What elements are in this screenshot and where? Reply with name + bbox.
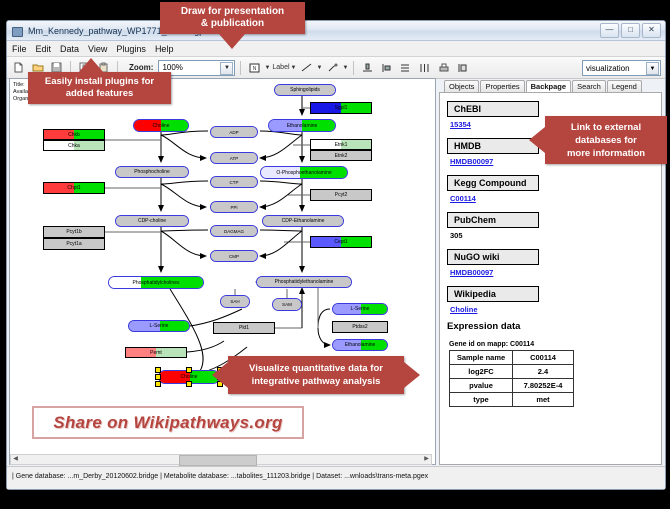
node-label: L-Serine — [351, 306, 370, 312]
tab-properties[interactable]: Properties — [480, 80, 524, 92]
gene-node-pcyt1a[interactable]: Pcyt1a — [43, 238, 105, 250]
datanode-dropdown[interactable]: N ▼ — [246, 59, 270, 76]
node-label: Pcyt1b — [66, 229, 81, 235]
db-name-pubchem: PubChem — [447, 212, 539, 228]
maximize-button[interactable]: □ — [621, 23, 640, 38]
order-icon[interactable] — [454, 59, 471, 76]
metabolite-node-ethanolamine[interactable]: Ethanolamine — [268, 119, 336, 132]
metabolite-node-atp[interactable]: ATP — [210, 152, 258, 164]
scroll-left-icon[interactable]: ◀ — [11, 455, 20, 464]
metabolite-node-cdp-choline[interactable]: CDP-choline — [115, 215, 189, 227]
db-name-nugo-wiki: NuGO wiki — [447, 249, 539, 265]
metabolite-node-phosphatidylcholines[interactable]: Phosphatidylcholines — [108, 276, 204, 289]
minimize-button[interactable]: — — [600, 23, 619, 38]
node-label: Pld1 — [239, 325, 249, 331]
chevron-down-icon[interactable]: ▼ — [291, 65, 297, 71]
callout-plugins-line1: Easily install plugins for — [45, 76, 154, 88]
node-label: Ethanolamine — [287, 123, 318, 129]
selection-handle[interactable] — [186, 381, 192, 387]
print-icon[interactable] — [435, 59, 452, 76]
callout-visualize-line2: integrative pathway analysis — [249, 375, 383, 388]
cell-value: met — [513, 393, 574, 407]
selection-handle[interactable] — [155, 381, 161, 387]
scroll-right-icon[interactable]: ▶ — [422, 455, 431, 464]
cell-key: pvalue — [450, 379, 513, 393]
db-name-kegg-compound: Kegg Compound — [447, 175, 539, 191]
menu-item-file[interactable]: File — [12, 44, 27, 54]
callout-visualize-arrow-right-icon — [404, 362, 420, 388]
metabolite-node-ethanolamine[interactable]: Ethanolamine — [332, 339, 388, 351]
metabolite-node-l-serine[interactable]: L-Serine — [332, 303, 388, 315]
metabolite-node-cmp[interactable]: CMP — [210, 250, 258, 262]
node-label: Phosphatidylcholines — [133, 280, 180, 286]
db-name-chebi: ChEBI — [447, 101, 539, 117]
callout-link-line3: more information — [567, 147, 645, 160]
datanode-icon[interactable]: N — [246, 59, 263, 76]
gene-node-etnk2[interactable]: Etnk2 — [310, 150, 372, 161]
callout-external-links: Link to external databases for more info… — [545, 116, 667, 164]
db-link-wikipedia[interactable]: Choline — [450, 305, 654, 314]
node-label: Chpt1 — [67, 185, 80, 191]
node-label: Etnk1 — [335, 142, 348, 148]
callout-plugins-arrow-icon — [78, 58, 104, 73]
zoom-value: 100% — [162, 63, 182, 72]
node-label: Chka — [68, 143, 80, 149]
node-label: Phosphatidylethanolamine — [275, 279, 334, 285]
chevron-down-icon[interactable]: ▼ — [646, 62, 659, 75]
metabolite-node-ppi[interactable]: PPi — [210, 201, 258, 213]
db-entry-pubchem: PubChem 305 — [447, 210, 654, 240]
db-entry-wikipedia: Wikipedia Choline — [447, 284, 654, 314]
selection-handle[interactable] — [155, 367, 161, 373]
tab-legend[interactable]: Legend — [607, 80, 642, 92]
tab-objects[interactable]: Objects — [444, 80, 479, 92]
callout-link-arrow-icon — [529, 127, 545, 153]
node-label: Sgpl1 — [335, 105, 348, 111]
distribute-icon[interactable] — [416, 59, 433, 76]
gene-node-cept1[interactable]: Cept1 — [310, 236, 372, 248]
zoom-label: Zoom: — [129, 63, 153, 72]
toolbar-separator — [353, 61, 354, 75]
gene-id-on-mapp: Gene id on mapp: C00114 — [449, 341, 654, 348]
align-bottom-icon[interactable] — [359, 59, 376, 76]
table-row: pvalue 7.80252E-4 — [450, 379, 574, 393]
anchor-icon[interactable] — [324, 59, 341, 76]
chevron-down-icon[interactable]: ▼ — [342, 65, 348, 71]
node-label: SAM — [282, 302, 292, 307]
callout-draw-line1: Draw for presentation — [181, 6, 284, 18]
metabolite-node-l-serine[interactable]: L-Serine — [128, 320, 190, 332]
anchor-dropdown[interactable]: ▼ — [324, 59, 348, 76]
cell-value: 2.4 — [513, 365, 574, 379]
expression-table: Sample name C00114 log2FC 2.4 pvalue 7.8… — [449, 350, 574, 407]
metabolite-node-cdp-ethanolamine[interactable]: CDP-Ethanolamine — [262, 215, 344, 227]
node-label: CMP — [229, 254, 239, 259]
gene-node-chkb[interactable]: Chkb — [43, 129, 105, 140]
share-wikipathways-text: Share on Wikipathways.org — [53, 413, 282, 433]
gene-node-chpt1[interactable]: Chpt1 — [43, 182, 105, 194]
cell-key: log2FC — [450, 365, 513, 379]
title-bar: Mm_Kennedy_pathway_WP1771_45176.gpml — □… — [7, 21, 665, 41]
db-link-kegg-compound[interactable]: C00114 — [450, 194, 654, 203]
callout-visualize-arrow-left-icon — [212, 362, 228, 388]
node-label: Sphingolipids — [290, 87, 320, 93]
db-name-wikipedia: Wikipedia — [447, 286, 539, 302]
menu-item-help[interactable]: Help — [155, 44, 174, 54]
callout-draw-line2: & publication — [181, 18, 284, 30]
align-left-icon[interactable] — [378, 59, 395, 76]
expression-data-heading: Expression data — [447, 321, 654, 332]
pathway-canvas[interactable]: Title: Availa Organ — [9, 78, 436, 465]
callout-draw-for-publication: Draw for presentation & publication — [160, 2, 305, 34]
gene-node-etnk1[interactable]: Etnk1 — [310, 139, 372, 150]
metabolite-node-ctp[interactable]: CTP — [210, 176, 258, 188]
selection-handle[interactable] — [155, 374, 161, 380]
menu-item-data[interactable]: Data — [60, 44, 79, 54]
node-label: O-Phosphoethanolamine — [276, 170, 331, 176]
sidebar-tabs: Objects Properties Backpage Search Legen… — [439, 78, 662, 92]
gene-node-pemt[interactable]: Pemt — [125, 347, 187, 358]
menu-item-edit[interactable]: Edit — [36, 44, 52, 54]
metabolite-node-phosphatidylethanolamine[interactable]: Phosphatidylethanolamine — [256, 276, 352, 288]
metabolite-node-sam[interactable]: SAM — [272, 298, 302, 311]
db-name-hmdb: HMDB — [447, 138, 539, 154]
callout-link-line1: Link to external — [567, 121, 645, 134]
callout-install-plugins: Easily install plugins for added feature… — [28, 72, 171, 104]
toolbar-separator — [240, 61, 241, 75]
menu-bar: File Edit Data View Plugins Help — [7, 41, 665, 57]
label-dropdown[interactable]: Label ▼ — [272, 64, 296, 71]
chevron-down-icon[interactable]: ▼ — [220, 62, 233, 75]
gene-node-pld1[interactable]: Pld1 — [213, 322, 275, 334]
svg-text:N: N — [253, 66, 257, 72]
table-row: type met — [450, 393, 574, 407]
close-button[interactable]: ✕ — [642, 23, 661, 38]
node-label: ADP — [229, 130, 238, 135]
node-label: Choline — [153, 123, 170, 129]
node-label: ATP — [230, 156, 238, 161]
metabolite-node-o-phosphoethanolamine[interactable]: O-Phosphoethanolamine — [260, 166, 348, 179]
node-label: Cept1 — [334, 239, 347, 245]
callout-plugins-line2: added features — [45, 88, 154, 100]
metabolite-node-choline[interactable]: Choline — [133, 119, 189, 132]
visualization-value: visualization — [586, 64, 630, 73]
metabolite-node-sah[interactable]: SAH — [220, 295, 250, 308]
status-bar: | Gene database: ...m_Derby_20120602.bri… — [7, 466, 665, 489]
visualization-select[interactable]: visualization ▼ — [582, 60, 661, 76]
line-icon[interactable] — [298, 59, 315, 76]
node-label: L-Serine — [150, 323, 169, 329]
node-label: DAGMAG — [224, 229, 244, 234]
gene-node-chka[interactable]: Chka — [43, 140, 105, 151]
new-file-icon[interactable] — [10, 59, 27, 76]
gene-node-sgpl1[interactable]: Sgpl1 — [310, 102, 372, 114]
cell-key: type — [450, 393, 513, 407]
status-text: | Gene database: ...m_Derby_20120602.bri… — [12, 473, 428, 480]
node-label: PPi — [230, 205, 237, 210]
selection-handle[interactable] — [186, 367, 192, 373]
callout-visualize-line1: Visualize quantitative data for — [249, 362, 383, 375]
menu-item-view[interactable]: View — [88, 44, 107, 54]
stack-icon[interactable] — [397, 59, 414, 76]
node-label: Chkb — [68, 132, 80, 138]
cell-key: Sample name — [450, 351, 513, 365]
metabolite-node-dagmag[interactable]: DAGMAG — [210, 225, 258, 237]
tab-search[interactable]: Search — [572, 80, 606, 92]
db-entry-nugo: NuGO wiki HMDB00097 — [447, 247, 654, 277]
chevron-down-icon[interactable]: ▼ — [264, 65, 270, 71]
db-link-nugo-wiki[interactable]: HMDB00097 — [450, 268, 654, 277]
node-label: Phosphocholine — [134, 169, 170, 175]
canvas-horizontal-scrollbar[interactable]: ◀ ▶ — [10, 454, 432, 465]
node-label: Ethanolamine — [345, 342, 376, 348]
gene-node-ptdss2[interactable]: Ptdss2 — [332, 321, 388, 333]
db-value-pubchem: 305 — [450, 231, 654, 240]
cell-value: 7.80252E-4 — [513, 379, 574, 393]
metabolite-node-phosphocholine[interactable]: Phosphocholine — [115, 166, 189, 178]
label-dropdown-text: Label — [272, 64, 289, 71]
callout-visualize-data: Visualize quantitative data for integrat… — [228, 356, 404, 394]
line-dropdown[interactable]: ▼ — [298, 59, 322, 76]
callout-draw-arrow-icon — [219, 34, 245, 49]
node-label: CTP — [230, 180, 239, 185]
metabolite-node-adp[interactable]: ADP — [210, 126, 258, 138]
callout-link-line2: databases for — [567, 134, 645, 147]
node-label: Pcyt1a — [66, 241, 81, 247]
table-row: log2FC 2.4 — [450, 365, 574, 379]
gene-node-pcyt1b[interactable]: Pcyt1b — [43, 226, 105, 238]
node-label: Ptdss2 — [352, 324, 367, 330]
node-label: Choline — [181, 374, 198, 380]
cell-value: C00114 — [513, 351, 574, 365]
gene-node-pcyt2[interactable]: Pcyt2 — [310, 189, 372, 201]
chevron-down-icon[interactable]: ▼ — [316, 65, 322, 71]
node-label: SAH — [230, 299, 239, 304]
table-row: Sample name C00114 — [450, 351, 574, 365]
metabolite-node-sphingolipids[interactable]: Sphingolipids — [274, 84, 336, 96]
screenshot-root: Mm_Kennedy_pathway_WP1771_45176.gpml — □… — [0, 0, 670, 509]
scrollbar-thumb[interactable] — [179, 455, 257, 466]
window-controls: — □ ✕ — [600, 23, 661, 38]
node-label: CDP-choline — [138, 218, 166, 224]
app-logo-icon — [11, 25, 23, 37]
node-label: Pemt — [150, 350, 162, 356]
node-label: CDP-Ethanolamine — [282, 218, 325, 224]
share-wikipathways-banner: Share on Wikipathways.org — [32, 406, 304, 439]
db-entry-kegg: Kegg Compound C00114 — [447, 173, 654, 203]
node-label: Pcyt2 — [335, 192, 348, 198]
menu-item-plugins[interactable]: Plugins — [116, 44, 146, 54]
node-label: Etnk2 — [335, 153, 348, 159]
